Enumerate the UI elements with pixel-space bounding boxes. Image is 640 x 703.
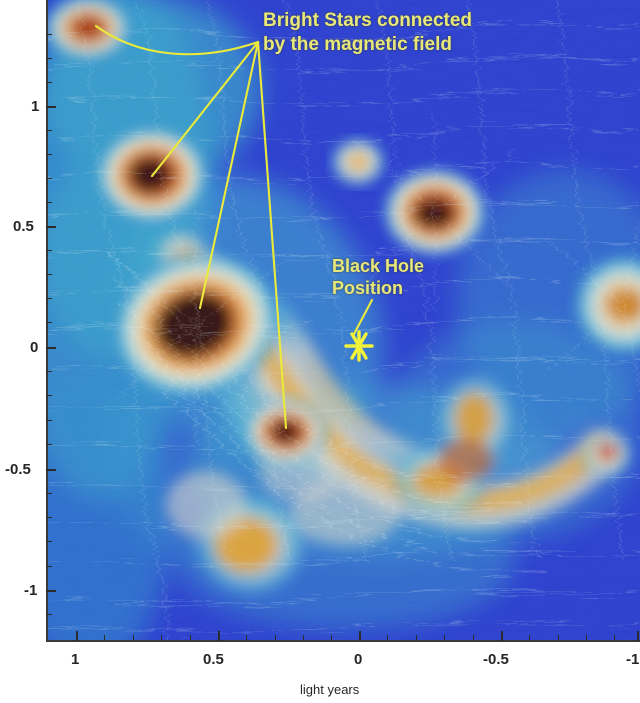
ytick-minor — [46, 493, 52, 494]
xtick-minor — [416, 635, 417, 641]
astronomy-figure: 1 0.5 0 -0.5 -1 1 0.5 0 -0.5 -1 light ye… — [0, 0, 640, 703]
xtick-minor — [331, 635, 332, 641]
xtick-minor — [586, 635, 587, 641]
ytick-minor — [46, 274, 52, 275]
ytick-minor — [46, 614, 52, 615]
ytick-0 — [46, 347, 56, 349]
xtick--0.5 — [501, 631, 503, 641]
ytick--0.5 — [46, 469, 56, 471]
yticklabel-1: 1 — [31, 98, 39, 115]
xtick-minor — [529, 635, 530, 641]
xtick-minor — [387, 635, 388, 641]
xtick--1 — [637, 631, 639, 641]
xtick-minor — [473, 635, 474, 641]
xtick-0 — [359, 631, 361, 641]
axis-left — [46, 0, 48, 641]
xtick-minor — [444, 635, 445, 641]
x-axis-label: light years — [300, 682, 359, 697]
ytick-minor — [46, 444, 52, 445]
ytick-minor — [46, 34, 52, 35]
ytick-1 — [46, 106, 56, 108]
yticklabel-0.5: 0.5 — [13, 218, 34, 235]
ytick-minor — [46, 130, 52, 131]
xtick-minor — [161, 635, 162, 641]
annotation-black-hole-line1: Black Hole — [332, 256, 424, 276]
annotation-bright-stars-line2: by the magnetic field — [263, 34, 452, 55]
magnetic-field-heatmap — [46, 0, 640, 640]
ytick-minor — [46, 298, 52, 299]
ytick-minor — [46, 566, 52, 567]
xtick-0.5 — [218, 631, 220, 641]
axis-bottom — [46, 640, 640, 642]
ytick-minor — [46, 420, 52, 421]
xtick-1 — [76, 631, 78, 641]
yticklabel--0.5: -0.5 — [5, 461, 31, 478]
yticklabel--1: -1 — [24, 582, 37, 599]
xticklabel-0: 0 — [354, 651, 362, 668]
heatmap-canvas — [46, 0, 640, 640]
xtick-minor — [558, 635, 559, 641]
xtick-minor — [614, 635, 615, 641]
annotation-black-hole-line2: Position — [332, 278, 403, 298]
xtick-minor — [133, 635, 134, 641]
ytick-minor — [46, 322, 52, 323]
xticklabel--0.5: -0.5 — [483, 651, 509, 668]
yticklabel-0: 0 — [30, 339, 38, 356]
xtick-minor — [246, 635, 247, 641]
xtick-minor — [275, 635, 276, 641]
xticklabel-0.5: 0.5 — [203, 651, 224, 668]
xtick-minor — [190, 635, 191, 641]
xtick-minor — [104, 635, 105, 641]
xtick-minor — [303, 635, 304, 641]
xticklabel-1: 1 — [71, 651, 79, 668]
ytick-minor — [46, 395, 52, 396]
ytick-minor — [46, 517, 52, 518]
ytick-0.5 — [46, 226, 56, 228]
ytick-minor — [46, 178, 52, 179]
ytick-minor — [46, 154, 52, 155]
ytick-minor — [46, 541, 52, 542]
xticklabel--1: -1 — [626, 651, 639, 668]
ytick-minor — [46, 250, 52, 251]
ytick-minor — [46, 202, 52, 203]
ytick-minor — [46, 58, 52, 59]
annotation-bright-stars-line1: Bright Stars connected — [263, 10, 472, 31]
ytick-minor — [46, 82, 52, 83]
ytick-minor — [46, 371, 52, 372]
ytick--1 — [46, 590, 56, 592]
